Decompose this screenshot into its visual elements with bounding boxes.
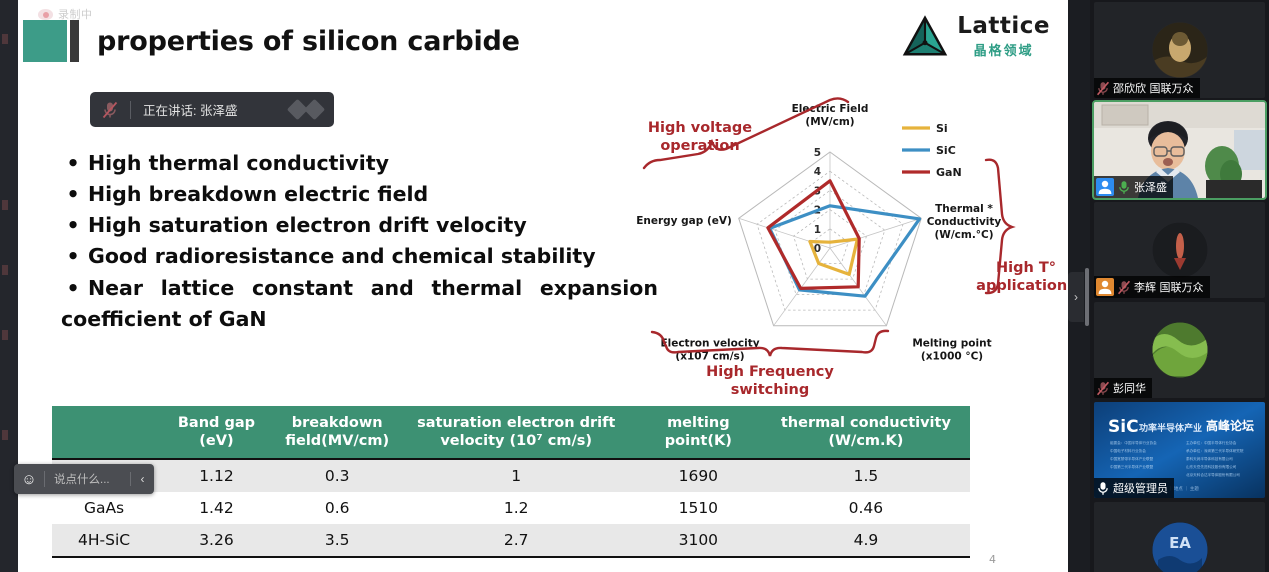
- svg-text:承办单位：深圳第三代半导体研究院: 承办单位：深圳第三代半导体研究院: [1186, 448, 1244, 453]
- svg-text:中国宽禁带半导体产业联盟: 中国宽禁带半导体产业联盟: [1110, 456, 1154, 461]
- bullet-text: High saturation electron drift velocity: [88, 210, 527, 241]
- table-cell: 3.26: [156, 524, 277, 557]
- table-header-cell: melting point(K): [635, 406, 762, 459]
- bullet-dot-icon: •: [58, 148, 88, 179]
- list-item: • High breakdown electric field: [58, 179, 678, 210]
- bullet-dot-icon: •: [58, 179, 88, 210]
- active-speaker-toast: 正在讲话: 张泽盛: [90, 92, 334, 127]
- bullet-word: thermal: [431, 273, 522, 304]
- avatar: [1152, 322, 1208, 378]
- title-accent-bar: [70, 20, 79, 62]
- bullet-word: and: [371, 273, 414, 304]
- radar-axis-label: Thermal *: [935, 203, 993, 215]
- svg-text:组委会：中国半导体行业协会: 组委会：中国半导体行业协会: [1110, 440, 1157, 445]
- participant-tile[interactable]: 张泽盛: [1094, 102, 1265, 198]
- participant-name: 邵欣欣 国联万众: [1113, 80, 1194, 96]
- slide-page-number: 4: [989, 553, 996, 566]
- chat-input[interactable]: 说点什么...: [45, 471, 130, 487]
- chat-input-bar[interactable]: ☺ 说点什么... ‹: [14, 464, 154, 494]
- bullet-text-justified: Near lattice constant and thermal expans…: [88, 273, 658, 304]
- mic-active-icon: [1096, 481, 1110, 496]
- smiley-icon[interactable]: ☺: [14, 471, 44, 488]
- svg-text:功率半导体产业: 功率半导体产业: [1139, 422, 1202, 434]
- legend-label-si: Si: [936, 122, 948, 135]
- table-header-cell: [52, 406, 156, 459]
- participant-name: 超级管理员: [1113, 480, 1168, 496]
- table-cell: 1.5: [762, 459, 970, 492]
- radar-chart-svg: 012345Electric Field(MV/cm)Thermal *Cond…: [634, 88, 1068, 400]
- scrollbar-thumb[interactable]: [1085, 268, 1089, 326]
- bullet-text: High breakdown electric field: [88, 179, 428, 210]
- svg-text:泰科天润半导体科技有限公司: 泰科天润半导体科技有限公司: [1186, 456, 1233, 461]
- mic-muted-icon: [1096, 381, 1110, 396]
- bullet-word: Near: [88, 273, 143, 304]
- audio-wave-icon: [290, 102, 322, 117]
- lattice-logo: Lattice 晶格领域: [902, 14, 1050, 60]
- legend-label-sic: SiC: [936, 144, 956, 157]
- participant-name: 李辉 国联万众: [1134, 279, 1204, 295]
- svg-text:ЕA: ЕA: [1169, 534, 1191, 552]
- list-item: • High thermal conductivity: [58, 148, 678, 179]
- table-cell: 4H-SiC: [52, 524, 156, 557]
- table-cell: 1.2: [398, 492, 635, 524]
- mic-active-icon: [1117, 180, 1131, 195]
- bullet-dot-icon: •: [58, 210, 88, 241]
- radar-chart: 012345Electric Field(MV/cm)Thermal *Cond…: [634, 88, 1068, 400]
- shared-screen-slide: 录制中 properties of silicon carbide Lattic…: [18, 0, 1068, 572]
- radar-tick-label: 1: [814, 224, 821, 236]
- chart-annotation-label: High Frequency: [706, 364, 834, 380]
- list-item: • High saturation electron drift velocit…: [58, 210, 678, 241]
- mic-muted-icon: [1096, 81, 1110, 96]
- participant-label: 李辉 国联万众: [1094, 276, 1210, 298]
- chevron-left-icon[interactable]: ‹: [130, 472, 154, 486]
- page-title: properties of silicon carbide: [97, 26, 520, 57]
- radar-tick-label: 4: [814, 166, 821, 178]
- radar-axis-label: Melting point: [912, 338, 991, 350]
- participant-label: 张泽盛: [1094, 176, 1173, 198]
- table-row: 4H-SiC3.263.52.731004.9: [52, 524, 970, 557]
- participant-sidebar[interactable]: 邵欣欣 国联万众张泽盛李辉 国联万众彭同华SiC功率半导体产业高峰论坛组委会：中…: [1090, 0, 1269, 572]
- table-cell: 1690: [635, 459, 762, 492]
- recording-icon: [38, 9, 53, 20]
- list-item: • Good radioresistance and chemical stab…: [58, 241, 678, 272]
- mic-muted-icon: [1117, 280, 1131, 295]
- user-badge-icon: [1096, 178, 1114, 196]
- participant-tile[interactable]: ЕA: [1094, 502, 1265, 572]
- table-row: Si1.120.3116901.5: [52, 459, 970, 492]
- meeting-window: 录制中 properties of silicon carbide Lattic…: [0, 0, 1269, 572]
- radar-axis-label: (x1000 °C): [921, 351, 983, 363]
- svg-text:SiC: SiC: [1108, 417, 1139, 437]
- logo-chinese-subtitle: 晶格领域: [974, 40, 1034, 59]
- table-cell: 2.7: [398, 524, 635, 557]
- collapse-panel-button[interactable]: ›: [1068, 272, 1084, 322]
- participant-label: 邵欣欣 国联万众: [1094, 78, 1200, 98]
- participant-name: 张泽盛: [1134, 179, 1167, 195]
- chart-annotation-label: switching: [731, 382, 810, 398]
- table-cell: GaAs: [52, 492, 156, 524]
- active-speaker-label: 正在讲话: 张泽盛: [143, 100, 237, 119]
- participant-label: 超级管理员: [1094, 478, 1174, 498]
- svg-text:主办单位：中国半导体行业协会: 主办单位：中国半导体行业协会: [1186, 440, 1237, 445]
- radar-axis-label: (MV/cm): [805, 116, 854, 128]
- svg-text:北京天科合达半导体股份有限公司: 北京天科合达半导体股份有限公司: [1186, 472, 1240, 477]
- table-cell: 1510: [635, 492, 762, 524]
- participant-tile[interactable]: 邵欣欣 国联万众: [1094, 2, 1265, 98]
- table-cell: 1.12: [156, 459, 277, 492]
- table-cell: 3.5: [277, 524, 398, 557]
- chart-annotation-label: operation: [660, 138, 739, 154]
- svg-text:中国电子材料行业协会: 中国电子材料行业协会: [1110, 448, 1146, 453]
- table-header-cell: saturation electron drift velocity (10⁷ …: [398, 406, 635, 459]
- bullet-word: constant: [252, 273, 353, 304]
- bullet-dot-icon: •: [58, 241, 88, 272]
- list-item: • Near lattice constant and thermal expa…: [58, 273, 678, 335]
- chart-annotation-label: applications: [976, 278, 1068, 294]
- mic-muted-icon: [102, 101, 118, 119]
- table-cell: 1: [398, 459, 635, 492]
- participant-name: 彭同华: [1113, 380, 1146, 396]
- avatar: [1152, 222, 1208, 278]
- bullet-dot-icon: •: [58, 273, 88, 304]
- properties-table: Band gap (eV) breakdown field(MV/cm) sat…: [52, 406, 970, 558]
- chart-annotation-label: High T°: [996, 260, 1056, 276]
- table-cell: 1.42: [156, 492, 277, 524]
- table-cell: 4.9: [762, 524, 970, 557]
- svg-text:山东天岳先进科技股份有限公司: 山东天岳先进科技股份有限公司: [1186, 464, 1237, 469]
- bullet-word: lattice: [161, 273, 235, 304]
- radar-axis-label: Energy gap (eV): [636, 215, 732, 227]
- avatar: [1152, 22, 1208, 78]
- user-badge-icon: [1096, 278, 1114, 296]
- radar-axis-label: (W/cm.°C): [934, 229, 993, 241]
- participant-tile[interactable]: 李辉 国联万众: [1094, 202, 1265, 298]
- svg-text:中国第三代半导体产业联盟: 中国第三代半导体产业联盟: [1110, 464, 1154, 469]
- table-cell: 3100: [635, 524, 762, 557]
- participant-tile[interactable]: SiC功率半导体产业高峰论坛组委会：中国半导体行业协会中国电子材料行业协会中国宽…: [1094, 402, 1265, 498]
- participant-tile[interactable]: 彭同华: [1094, 302, 1265, 398]
- bullet-text: Good radioresistance and chemical stabil…: [88, 241, 596, 272]
- avatar: ЕA: [1152, 522, 1208, 572]
- bullet-text: High thermal conductivity: [88, 148, 389, 179]
- table-cell: 0.6: [277, 492, 398, 524]
- bullet-text-continuation: coefficient of GaN: [58, 304, 678, 335]
- title-accent-square: [23, 20, 67, 62]
- table-cell: 0.3: [277, 459, 398, 492]
- radar-axis-label: Conductivity: [927, 216, 1002, 228]
- table-header-row: Band gap (eV) breakdown field(MV/cm) sat…: [52, 406, 970, 459]
- table-cell: 0.46: [762, 492, 970, 524]
- chart-annotation-label: High voltage: [648, 120, 752, 136]
- table-header-cell: breakdown field(MV/cm): [277, 406, 398, 459]
- table-row: GaAs1.420.61.215100.46: [52, 492, 970, 524]
- table-header-cell: Band gap (eV): [156, 406, 277, 459]
- participant-label: 彭同华: [1094, 378, 1152, 398]
- slide-title-row: properties of silicon carbide: [23, 20, 520, 62]
- legend-label-gan: GaN: [936, 166, 962, 179]
- table-header-cell: thermal conductivity (W/cm.K): [762, 406, 970, 459]
- radar-tick-label: 5: [814, 147, 821, 159]
- svg-text:高峰论坛: 高峰论坛: [1206, 418, 1254, 433]
- lattice-mark-icon: [902, 14, 948, 60]
- bullet-list: • High thermal conductivity • High break…: [58, 148, 678, 335]
- logo-wordmark: Lattice: [957, 15, 1050, 38]
